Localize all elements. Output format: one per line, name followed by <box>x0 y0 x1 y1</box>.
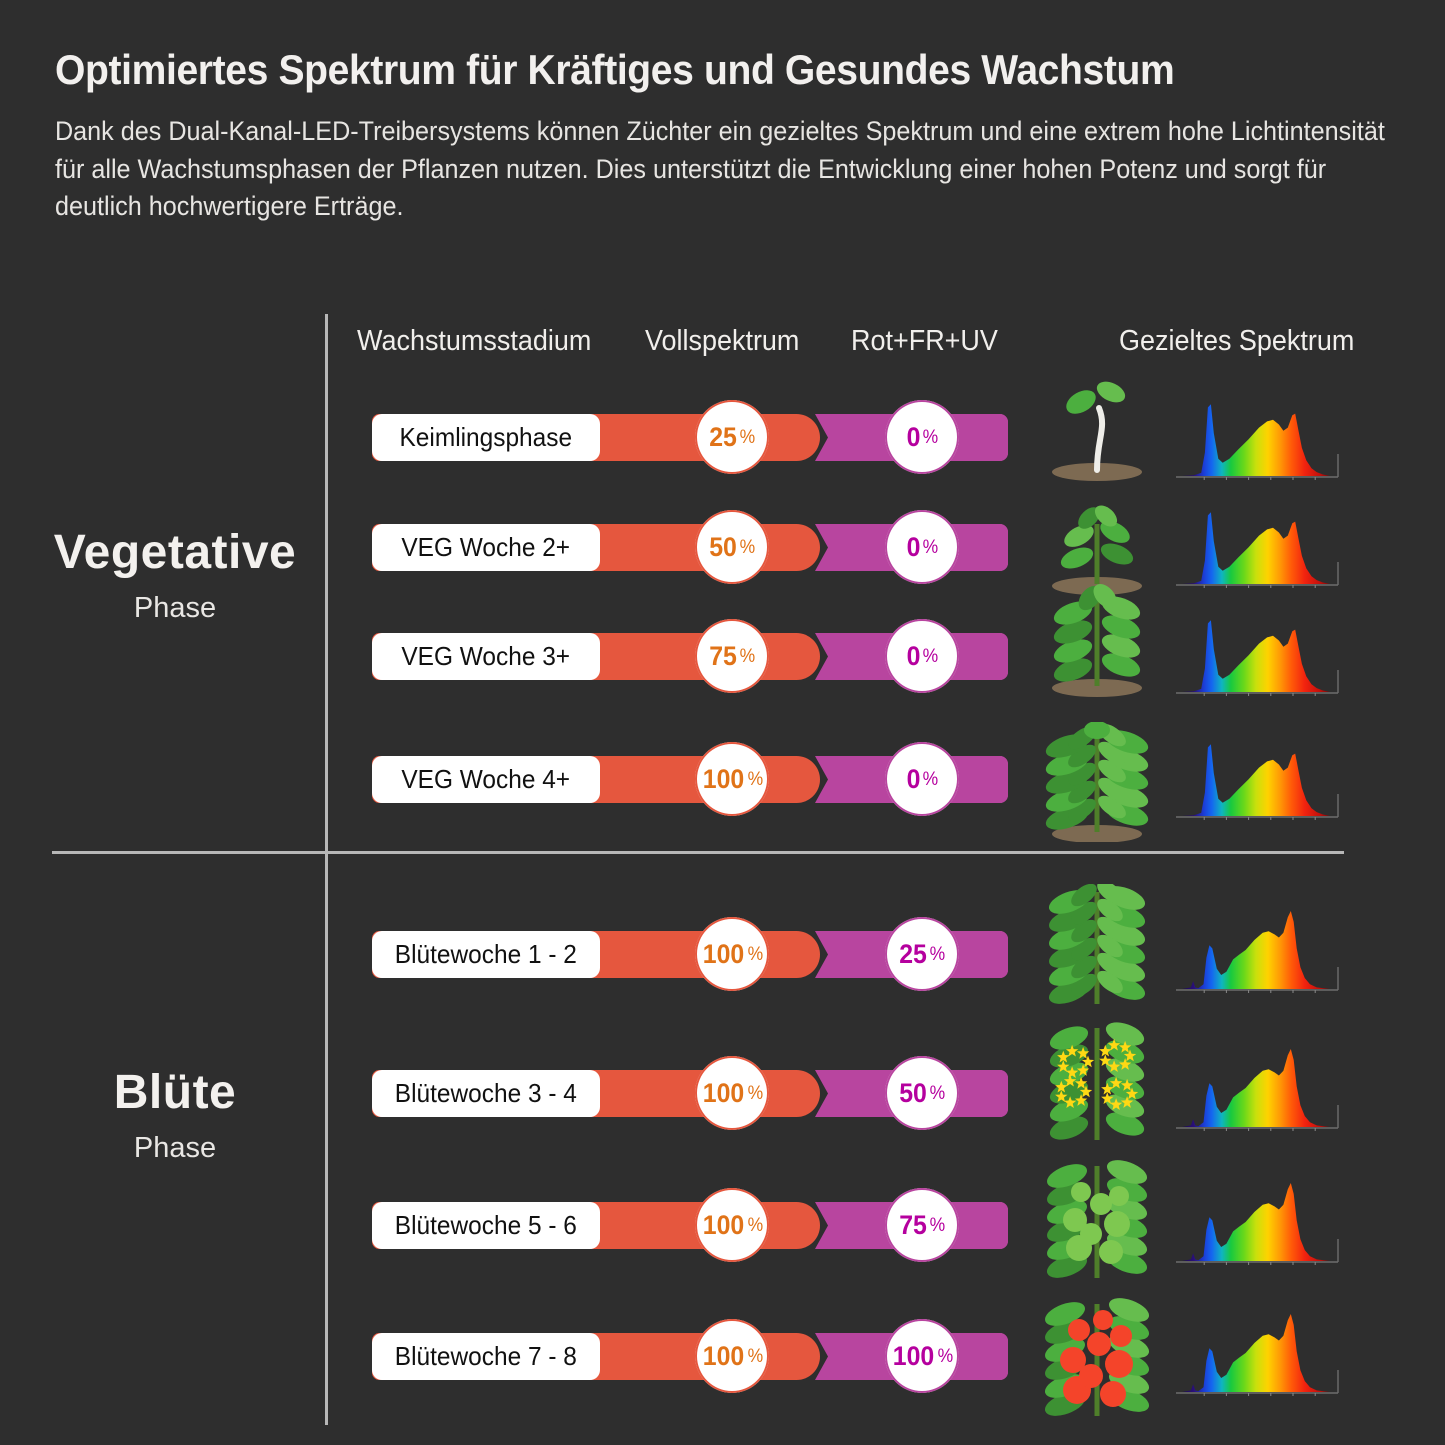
stage-bar: Blütewoche 5 - 6 100% 75% <box>372 1202 1008 1249</box>
red-fr-uv-percent-value: 0 <box>906 534 920 561</box>
full-spectrum-percent-badge: 100% <box>695 742 769 816</box>
spectrum-chart-bloom <box>1168 1043 1348 1135</box>
red-fr-uv-percent-badge: 25% <box>885 917 959 991</box>
stage-label-pill[interactable]: Blütewoche 5 - 6 <box>372 1202 600 1249</box>
red-fr-uv-percent-badge: 0% <box>885 619 959 693</box>
spectrum-chart-bloom <box>1168 905 1348 997</box>
percent-sign: % <box>747 1216 763 1235</box>
red-fr-uv-percent-value: 25 <box>899 941 927 968</box>
spectrum-chart-bloom <box>1168 1177 1348 1269</box>
plant-illustration-flowering-plant <box>1022 1020 1182 1140</box>
red-fr-uv-percent-value: 50 <box>899 1080 927 1107</box>
header: Optimiertes Spektrum für Kräftiges und G… <box>55 46 1395 226</box>
percent-sign: % <box>747 1084 763 1103</box>
plant-illustration-bushy-plant <box>1022 722 1182 842</box>
plant-illustration-ripe-fruit <box>1022 1296 1182 1416</box>
column-header-full: Vollspektrum <box>645 325 799 358</box>
percent-sign: % <box>740 538 756 557</box>
column-header-red: Rot+FR+UV <box>851 325 998 358</box>
stage-label-pill[interactable]: Keimlingsphase <box>372 414 600 461</box>
percent-sign: % <box>930 1084 946 1103</box>
infographic-page: Optimiertes Spektrum für Kräftiges und G… <box>0 0 1445 1445</box>
full-spectrum-percent-badge: 100% <box>695 1319 769 1393</box>
percent-sign: % <box>922 647 938 666</box>
stage-label-text: Blütewoche 1 - 2 <box>395 939 577 970</box>
stage-label-pill[interactable]: Blütewoche 3 - 4 <box>372 1070 600 1117</box>
full-spectrum-percent-value: 100 <box>702 1212 743 1239</box>
full-spectrum-percent-value: 100 <box>702 766 743 793</box>
stage-bar: VEG Woche 2+ 50% 0% <box>372 524 1008 571</box>
full-spectrum-percent-value: 75 <box>709 643 737 670</box>
percent-sign: % <box>937 1347 953 1366</box>
percent-sign: % <box>747 770 763 789</box>
red-fr-uv-percent-badge: 0% <box>885 510 959 584</box>
stage-bar: Blütewoche 3 - 4 100% 50% <box>372 1070 1008 1117</box>
full-spectrum-percent-value: 100 <box>702 941 743 968</box>
spectrum-chart-veg <box>1168 392 1348 484</box>
plant-illustration-green-fruit <box>1022 1158 1182 1278</box>
full-spectrum-percent-badge: 100% <box>695 1056 769 1130</box>
stage-bar: VEG Woche 4+ 100% 0% <box>372 756 1008 803</box>
full-spectrum-percent-value: 25 <box>709 424 737 451</box>
plant-illustration-leafy-plant <box>1022 578 1182 698</box>
stage-label-pill[interactable]: Blütewoche 1 - 2 <box>372 931 600 978</box>
red-fr-uv-percent-badge: 0% <box>885 742 959 816</box>
stage-label-text: Blütewoche 7 - 8 <box>395 1341 577 1372</box>
stage-label-text: VEG Woche 2+ <box>402 532 571 563</box>
full-spectrum-percent-value: 100 <box>702 1343 743 1370</box>
percent-sign: % <box>747 945 763 964</box>
stage-label-pill[interactable]: VEG Woche 2+ <box>372 524 600 571</box>
spectrum-chart-veg <box>1168 608 1348 700</box>
spectrum-chart-bloom <box>1168 1308 1348 1400</box>
percent-sign: % <box>740 428 756 447</box>
plant-illustration-tall-plant <box>1022 884 1182 1004</box>
full-spectrum-percent-value: 50 <box>709 534 737 561</box>
percent-sign: % <box>922 428 938 447</box>
red-fr-uv-percent-value: 0 <box>906 766 920 793</box>
column-headers: Wachstumsstadium Vollspektrum Rot+FR+UV … <box>0 325 1445 369</box>
stage-bar: Blütewoche 1 - 2 100% 25% <box>372 931 1008 978</box>
stage-bar: Blütewoche 7 - 8 100% 100% <box>372 1333 1008 1380</box>
full-spectrum-percent-value: 100 <box>702 1080 743 1107</box>
red-fr-uv-percent-value: 0 <box>906 643 920 670</box>
full-spectrum-percent-badge: 100% <box>695 917 769 991</box>
red-fr-uv-percent-badge: 0% <box>885 400 959 474</box>
percent-sign: % <box>930 945 946 964</box>
horizontal-divider-phase-split <box>52 851 1344 854</box>
page-title: Optimiertes Spektrum für Kräftiges und G… <box>55 46 1301 93</box>
red-fr-uv-percent-value: 75 <box>899 1212 927 1239</box>
plant-illustration-seedling <box>1022 368 1182 488</box>
full-spectrum-percent-badge: 25% <box>695 400 769 474</box>
stage-label-text: VEG Woche 4+ <box>402 764 571 795</box>
stage-label-text: Blütewoche 3 - 4 <box>395 1078 577 1109</box>
percent-sign: % <box>747 1347 763 1366</box>
spectrum-chart-veg <box>1168 732 1348 824</box>
phase-sub: Phase <box>30 1132 320 1165</box>
stage-label-pill[interactable]: VEG Woche 4+ <box>372 756 600 803</box>
red-fr-uv-percent-badge: 50% <box>885 1056 959 1130</box>
column-header-targeted: Gezieltes Spektrum <box>1119 325 1354 358</box>
stage-label-text: VEG Woche 3+ <box>402 641 571 672</box>
percent-sign: % <box>922 770 938 789</box>
page-subtitle: Dank des Dual-Kanal-LED-Treibersystems k… <box>55 113 1404 226</box>
stage-bar: Keimlingsphase 25% 0% <box>372 414 1008 461</box>
stage-label-text: Keimlingsphase <box>400 422 573 453</box>
full-spectrum-percent-badge: 50% <box>695 510 769 584</box>
red-fr-uv-percent-value: 100 <box>892 1343 933 1370</box>
red-fr-uv-percent-value: 0 <box>906 424 920 451</box>
stage-bar: VEG Woche 3+ 75% 0% <box>372 633 1008 680</box>
column-header-stage: Wachstumsstadium <box>357 325 591 358</box>
full-spectrum-percent-badge: 100% <box>695 1188 769 1262</box>
red-fr-uv-percent-badge: 100% <box>885 1319 959 1393</box>
percent-sign: % <box>740 647 756 666</box>
stage-label-pill[interactable]: VEG Woche 3+ <box>372 633 600 680</box>
stage-label-pill[interactable]: Blütewoche 7 - 8 <box>372 1333 600 1380</box>
spectrum-chart-veg <box>1168 500 1348 592</box>
full-spectrum-percent-badge: 75% <box>695 619 769 693</box>
red-fr-uv-percent-badge: 75% <box>885 1188 959 1262</box>
percent-sign: % <box>930 1216 946 1235</box>
stage-label-text: Blütewoche 5 - 6 <box>395 1210 577 1241</box>
percent-sign: % <box>922 538 938 557</box>
